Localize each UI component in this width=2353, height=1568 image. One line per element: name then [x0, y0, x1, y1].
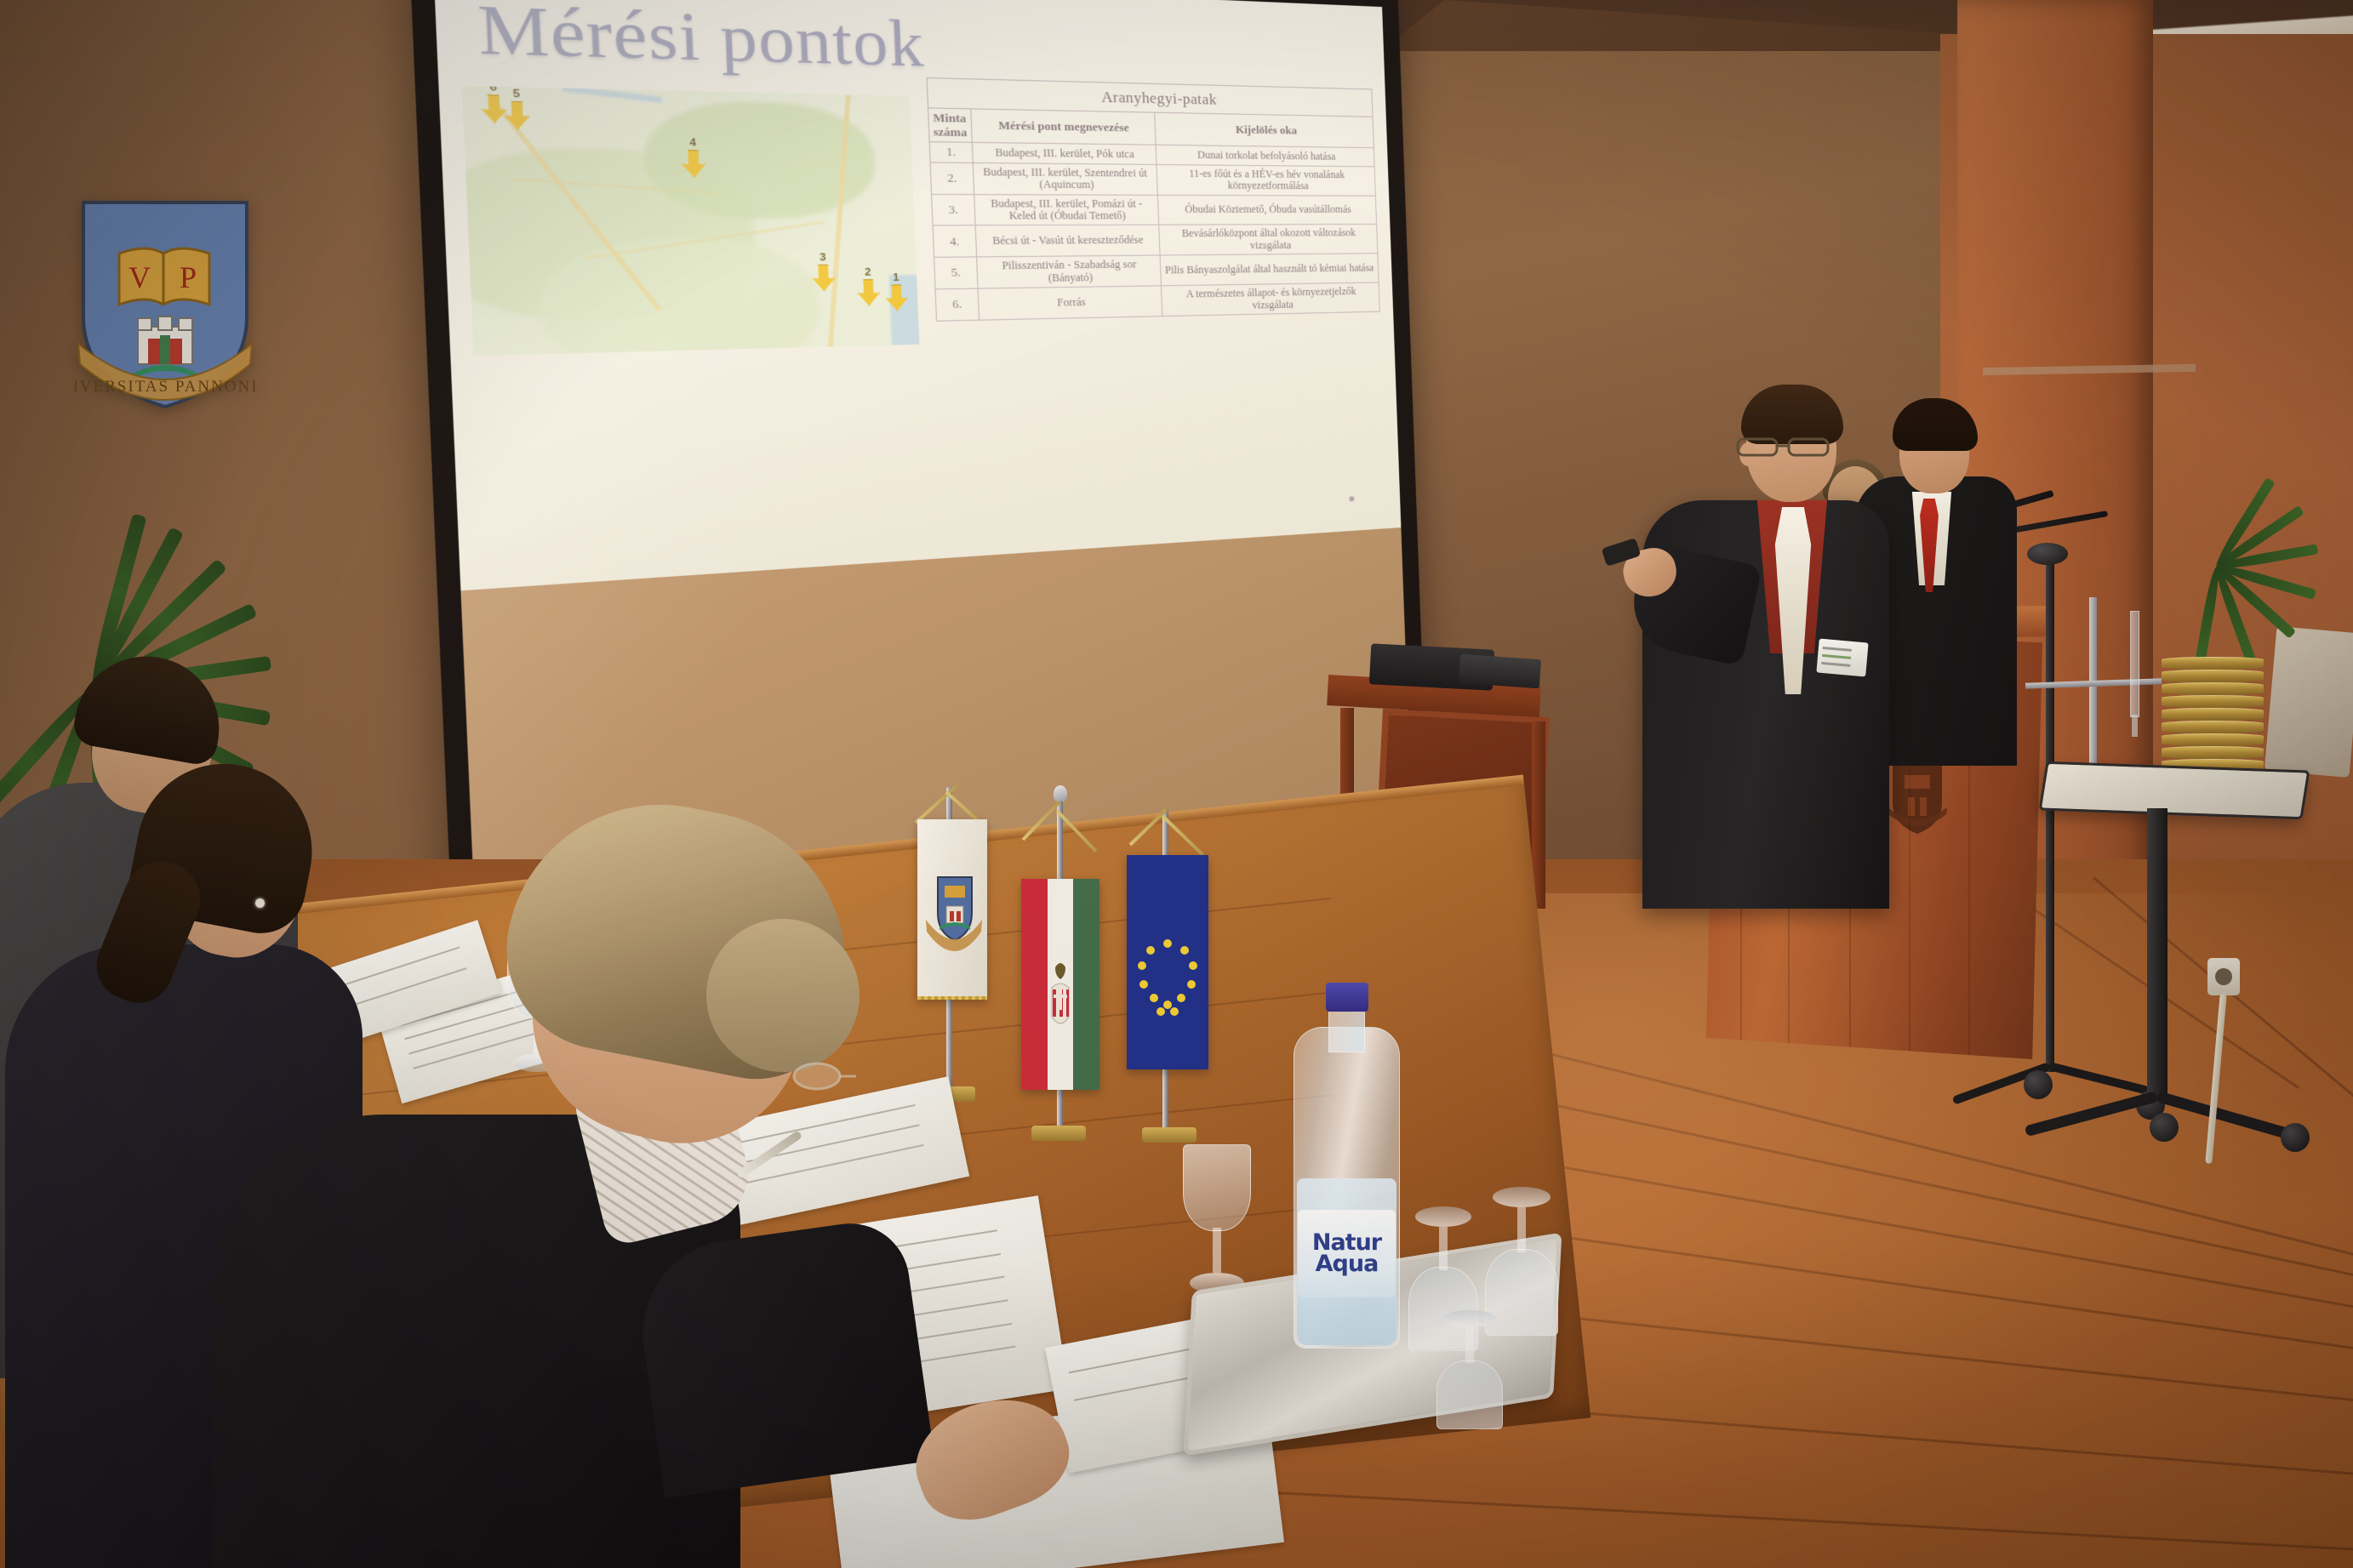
- flag-base: [1031, 1126, 1086, 1141]
- flag-cord: [1022, 801, 1061, 841]
- crest-motto: UNIVERSITAS PANNONICA: [75, 378, 255, 396]
- flag-group: [902, 787, 1259, 1144]
- map-pin: 5: [504, 88, 531, 129]
- table-row: 3. Budapest, III. kerület, Pomázi út - K…: [932, 194, 1377, 225]
- microphone-stand-pole: [2046, 562, 2054, 1072]
- slide-corner-marker: [1349, 496, 1354, 501]
- hungarian-flag: [1021, 879, 1099, 1090]
- slide-title: Mérési pontok: [477, 0, 926, 83]
- cart-caster: [2281, 1123, 2310, 1152]
- inverted-glass: [1436, 1310, 1503, 1429]
- table-row: 2. Budapest, III. kerület, Szentendrei ú…: [930, 163, 1375, 196]
- brass-sieve-stack: [2162, 657, 2264, 776]
- cart-caster: [2150, 1113, 2179, 1142]
- table-header-index: Minta száma: [928, 108, 972, 143]
- university-crest: V P UNIVERSITAS PANNONICA: [75, 197, 255, 410]
- bottle-body: [1294, 1027, 1400, 1348]
- university-pennant-flag: [917, 819, 987, 1000]
- laptop-on-side-table: [1459, 654, 1541, 689]
- lab-stand-rod: [2089, 597, 2097, 780]
- conference-room-photo: V P UNIVERSITAS PANNONICA PAN: [0, 0, 2353, 1568]
- screen-surface: Mérési pontok 6 5: [433, 0, 1411, 910]
- slide-map-image: 6 5 4 3 2 1: [462, 86, 920, 356]
- flag-fringe: [917, 996, 987, 1000]
- wine-glass: [1183, 1144, 1251, 1293]
- water-bottle: Natur Aqua: [1294, 983, 1400, 1348]
- earring-icon: [255, 898, 265, 908]
- wall-power-socket: [2207, 958, 2240, 995]
- crest-letter-p: P: [180, 260, 197, 294]
- slide-data-table: Aranyhegyi-patak Minta száma Mérési pont…: [927, 77, 1380, 322]
- flag-base: [1142, 1127, 1196, 1143]
- bottle-cap: [1326, 983, 1368, 1012]
- map-pin: 2: [857, 268, 881, 306]
- presentation-slide: Mérési pontok 6 5: [433, 0, 1401, 590]
- table-header-name: Mérési pont megnevezése: [970, 109, 1155, 145]
- burette-tip: [2132, 715, 2138, 737]
- eu-flag: [1127, 855, 1208, 1069]
- crest-letter-v: V: [129, 260, 151, 294]
- equipment-cart-post: [2147, 808, 2167, 1098]
- eyeglasses-icon: [1736, 436, 1835, 458]
- stand-caster: [2024, 1070, 2053, 1099]
- map-pin: 4: [681, 138, 706, 177]
- burette: [2130, 611, 2139, 717]
- table-row: 6. Forrás A természetes állapot- és körn…: [935, 282, 1379, 321]
- map-pin: 3: [811, 253, 835, 291]
- name-badge: [1816, 639, 1868, 677]
- table-header-reason: Kijelölés oka: [1154, 112, 1374, 148]
- bottle-label: Natur Aqua: [1298, 1210, 1396, 1297]
- brand-line-2: Aqua: [1316, 1253, 1379, 1274]
- map-pin: 1: [885, 273, 908, 311]
- eu-stars-icon: [1127, 855, 1208, 1069]
- hungarian-coat-of-arms-icon: [1021, 879, 1099, 1090]
- floor-microphone-head: [2027, 543, 2068, 565]
- podium-crest-icon: [1888, 760, 1947, 836]
- flag-finial: [1054, 785, 1067, 802]
- reading-glasses-icon: [791, 1059, 885, 1093]
- equipment-cart-top: [2039, 761, 2310, 820]
- table-row: 4. Bécsi út - Vasút út kereszteződése Be…: [933, 225, 1378, 258]
